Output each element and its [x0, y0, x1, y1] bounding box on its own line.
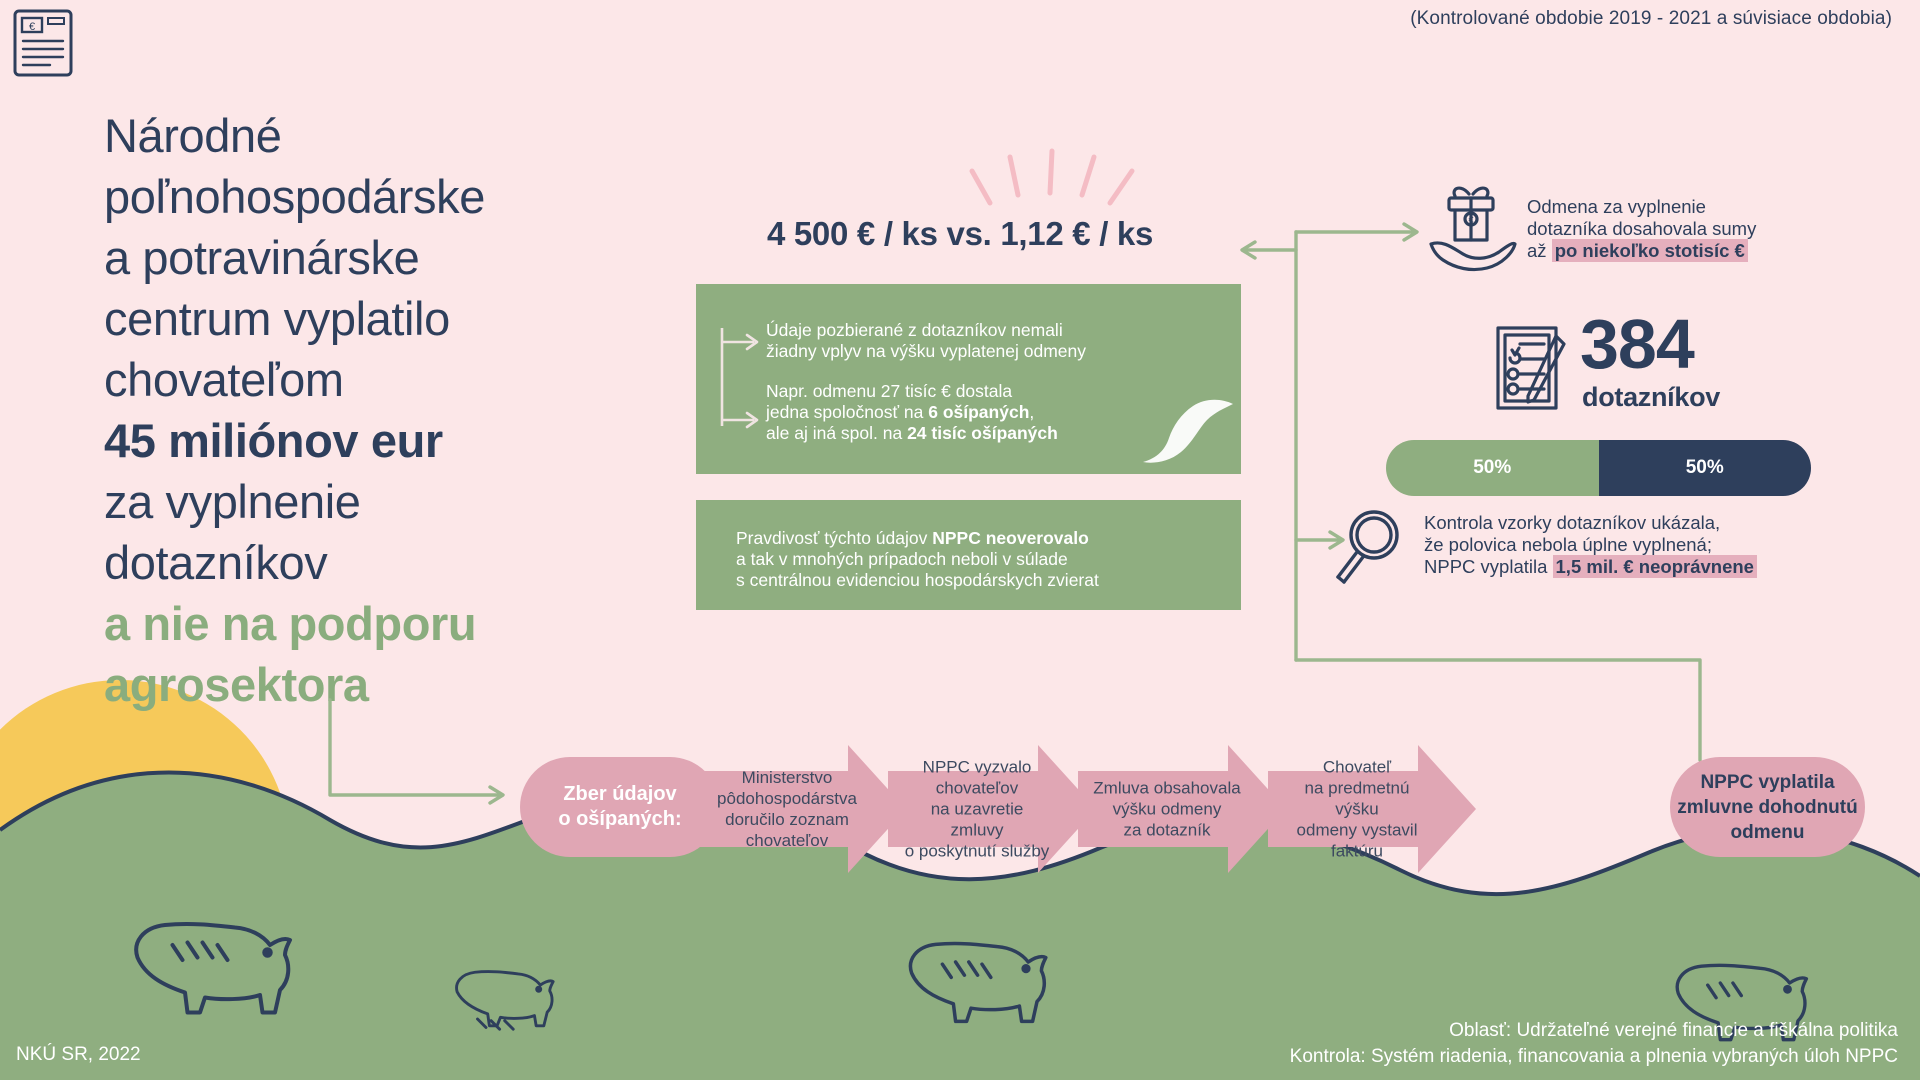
flow-step-1-line-3: doručilo zoznam — [725, 810, 849, 829]
flow-arrow-3: Zmluva obsahovala výšku odmeny za dotazn… — [1078, 745, 1286, 873]
flow-step-1-line-1: Ministerstvo — [742, 768, 833, 787]
green-info-box-1: Údaje pozbierané z dotazníkov nemali žia… — [696, 284, 1241, 474]
flow-start-line-2: o ošípaných: — [558, 808, 681, 830]
gb2-line1a: Pravdivosť týchto údajov — [736, 528, 932, 548]
flow-end-line-3: odmenu — [1731, 822, 1805, 843]
headline-line-10: agrosektora — [104, 658, 369, 711]
questionnaire-count: 384 — [1580, 312, 1694, 376]
flow-step-3-label: Zmluva obsahovala výšku odmeny za dotazn… — [1092, 778, 1242, 841]
gb1-i2-line3b: 24 tisíc ošípaných — [907, 423, 1058, 443]
gb1-i2-line2a: jedna spoločnosť na — [766, 402, 928, 422]
gb1-i1-line1: Údaje pozbierané z dotazníkov nemali — [766, 320, 1063, 340]
control-description: Kontrola vzorky dotazníkov ukázala, že p… — [1424, 512, 1844, 578]
control-line-1: Kontrola vzorky dotazníkov ukázala, — [1424, 512, 1720, 533]
svg-text:€: € — [1468, 215, 1473, 225]
reward-line-1: Odmena za vyplnenie — [1527, 196, 1706, 217]
split-bar: 50% 50% — [1386, 440, 1811, 496]
gb1-i2-line2b: 6 ošípaných — [928, 402, 1029, 422]
flow-step-3-line-3: za dotazník — [1124, 821, 1211, 840]
headline-line-9: a nie na podporu — [104, 597, 476, 650]
headline-line-8: dotazníkov — [104, 536, 327, 589]
gb2-line3: s centrálnou evidenciou hospodárskych zv… — [736, 570, 1099, 590]
flow-step-3-line-1: Zmluva obsahovala — [1093, 779, 1240, 798]
reward-line-2: dotazníka dosahovala sumy — [1527, 218, 1756, 239]
flow-step-2-line-4: o poskytnutí služby — [905, 842, 1050, 861]
flow-arrow-2: NPPC vyzvalo chovateľov na uzavretie zml… — [888, 745, 1096, 873]
flow-step-4-line-2: na predmetnú výšku — [1305, 779, 1410, 819]
flow-start-line-1: Zber údajov — [563, 783, 676, 805]
reward-description: Odmena za vyplnenie dotazníka dosahovala… — [1527, 196, 1917, 262]
reward-highlight: po niekoľko stotisíc € — [1552, 239, 1748, 262]
gb2-line2: a tak v mnohých prípadoch neboli v súlad… — [736, 549, 1068, 569]
flow-end-line-2: zmluvne dohodnutú — [1677, 797, 1857, 818]
svg-text:€: € — [29, 21, 35, 33]
pig-silhouette-icon — [1129, 396, 1237, 466]
control-highlight: 1,5 mil. € neoprávnene — [1553, 555, 1757, 578]
green-info-box-2: Pravdivosť týchto údajov NPPC neoveroval… — [696, 500, 1241, 610]
process-flow: Zber údajov o ošípaných: Ministerstvo pô… — [520, 745, 1860, 875]
green-box-1-item-1: Údaje pozbierané z dotazníkov nemali žia… — [766, 320, 1086, 362]
spark-burst-icon — [960, 145, 1160, 215]
control-line-2: že polovica nebola úplne vyplnená; — [1424, 534, 1712, 555]
flow-step-2-line-3: na uzavretie zmluvy — [931, 800, 1024, 840]
footer-left: NKÚ SR, 2022 — [16, 1044, 141, 1066]
gift-in-hand-icon: € — [1425, 182, 1517, 274]
gb1-i2-line3a: ale aj iná spol. na — [766, 423, 907, 443]
footer-right-line-1: Oblasť: Udržateľné verejné financie a fi… — [1449, 1020, 1898, 1041]
flow-end-line-1: NPPC vyplatila — [1700, 772, 1834, 793]
flow-step-1-label: Ministerstvo pôdohospodárstva doručilo z… — [712, 767, 862, 851]
flow-step-3-line-2: výšku odmeny — [1113, 800, 1222, 819]
headline-line-4: centrum vyplatilo — [104, 292, 450, 345]
flow-step-2-label: NPPC vyzvalo chovateľov na uzavretie zml… — [902, 757, 1052, 862]
price-comparison: 4 500 € / ks vs. 1,12 € / ks — [700, 215, 1220, 253]
flow-step-4-line-1: Chovateľ — [1323, 758, 1391, 777]
questionnaire-count-label: dotazníkov — [1582, 382, 1720, 413]
magnifier-icon — [1330, 505, 1414, 589]
headline-line-1: Národné — [104, 109, 282, 162]
footer-right: Oblasť: Udržateľné verejné financie a fi… — [1290, 1018, 1898, 1070]
green-box-2-text: Pravdivosť týchto údajov NPPC neoveroval… — [736, 528, 1216, 591]
footer-right-line-2: Kontrola: Systém riadenia, financovania … — [1290, 1046, 1898, 1067]
green-box-1-item-2: Napr. odmenu 27 tisíc € dostala jedna sp… — [766, 381, 1058, 444]
flow-step-1-line-2: pôdohospodárstva — [717, 789, 857, 808]
flow-step-2-line-1: NPPC vyzvalo — [923, 758, 1032, 777]
gb2-line1b: NPPC neoverovalo — [932, 528, 1089, 548]
headline-amount: 45 miliónov eur — [104, 414, 443, 467]
headline-line-7: za vyplnenie — [104, 475, 360, 528]
split-bar-right-segment: 50% — [1599, 440, 1812, 496]
headline-line-2: poľnohospodárske — [104, 170, 485, 223]
control-line-3a: NPPC vyplatila — [1424, 556, 1553, 577]
flow-arrow-4: Chovateľ na predmetnú výšku odmeny vysta… — [1268, 745, 1476, 873]
flow-arrow-1: Ministerstvo pôdohospodárstva doručilo z… — [698, 745, 906, 873]
headline-line-5: chovateľom — [104, 353, 344, 406]
gb1-i1-line2: žiadny vplyv na výšku vyplatenej odmeny — [766, 341, 1086, 361]
flow-step-4-line-3: odmeny vystavil — [1297, 821, 1418, 840]
infographic-stage: € (Kontrolované obdobie 2019 - 2021 a sú… — [0, 0, 1920, 1080]
flow-start-pill: Zber údajov o ošípaných: — [520, 757, 720, 857]
split-bar-left-segment: 50% — [1386, 440, 1599, 496]
gb1-i2-line1: Napr. odmenu 27 tisíc € dostala — [766, 381, 1012, 401]
gb1-i2-line2c: , — [1029, 402, 1034, 422]
branch-arrow-icon — [714, 320, 766, 438]
headline-line-3: a potravinárske — [104, 231, 419, 284]
period-note: (Kontrolované obdobie 2019 - 2021 a súvi… — [1410, 8, 1892, 30]
flow-step-4-label: Chovateľ na predmetnú výšku odmeny vysta… — [1282, 757, 1432, 862]
flow-step-4-line-4: faktúru — [1331, 842, 1383, 861]
clipboard-checklist-icon — [1494, 322, 1572, 414]
flow-step-1-line-4: chovateľov — [746, 831, 828, 850]
page-title: Národné poľnohospodárske a potravinárske… — [104, 105, 664, 715]
reward-line-3a: až — [1527, 240, 1552, 261]
document-calculator-icon: € — [12, 8, 74, 78]
flow-end-pill: NPPC vyplatila zmluvne dohodnutú odmenu — [1670, 757, 1865, 857]
flow-step-2-line-2: chovateľov — [936, 779, 1018, 798]
